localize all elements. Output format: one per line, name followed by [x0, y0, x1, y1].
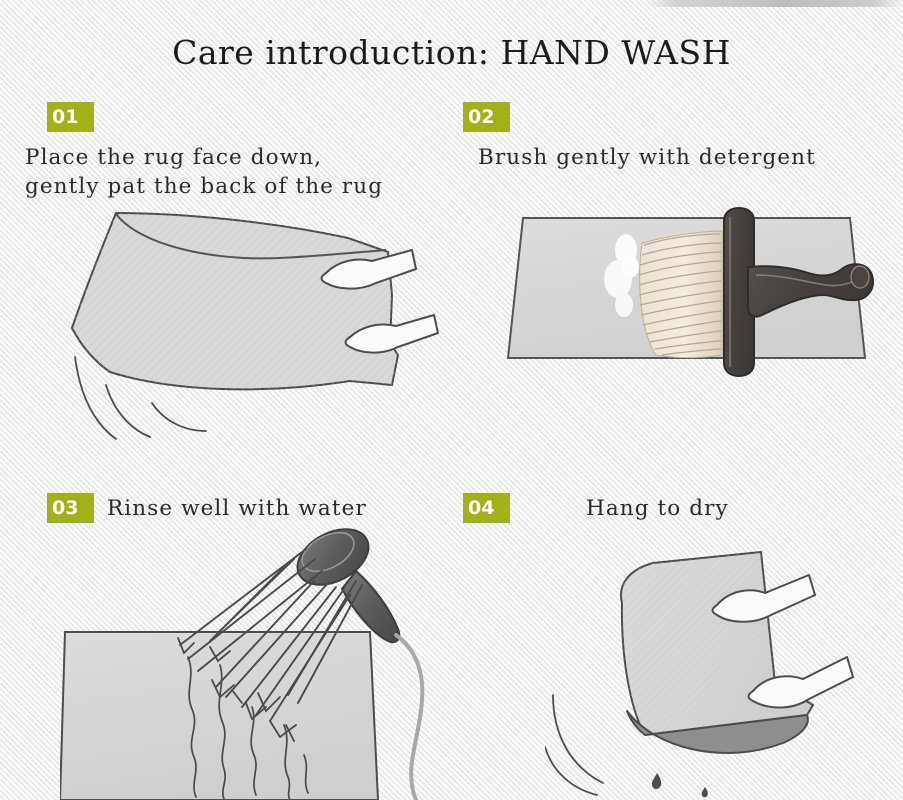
motion-arc-2 [106, 385, 150, 437]
page-title: Care introduction: HAND WASH [0, 33, 903, 72]
step-caption-01: Place the rug face down, gently pat the … [25, 143, 383, 201]
rug-face-down-pat-illustration [20, 195, 460, 465]
step-badge-04: 04 [463, 493, 510, 523]
rug-hanging-to-dry-illustration [545, 535, 900, 800]
brush-handle-cap [851, 266, 869, 288]
motion-arc-3 [152, 403, 206, 431]
motion-droplet-1 [652, 773, 661, 789]
care-instructions-page: Care introduction: HAND WASH 01 Place th… [0, 0, 903, 800]
step-caption-02: Brush gently with detergent [478, 143, 816, 172]
shower-head-rinsing-mat-illustration [60, 525, 460, 800]
motion-arc-2 [545, 747, 597, 795]
mat-with-scrub-brush-illustration [490, 195, 890, 440]
motion-droplet-2 [702, 787, 708, 797]
step-badge-03: 03 [47, 493, 94, 523]
top-gray-bar [646, 0, 903, 7]
brush-bristles [639, 231, 722, 358]
step-badge-01: 01 [47, 102, 94, 132]
step-caption-03: Rinse well with water [107, 494, 367, 523]
shower-hose [396, 635, 422, 800]
step-badge-02: 02 [463, 102, 510, 132]
step-caption-04: Hang to dry [586, 494, 729, 523]
motion-arc-1 [553, 695, 603, 783]
mat-surface [60, 632, 378, 800]
